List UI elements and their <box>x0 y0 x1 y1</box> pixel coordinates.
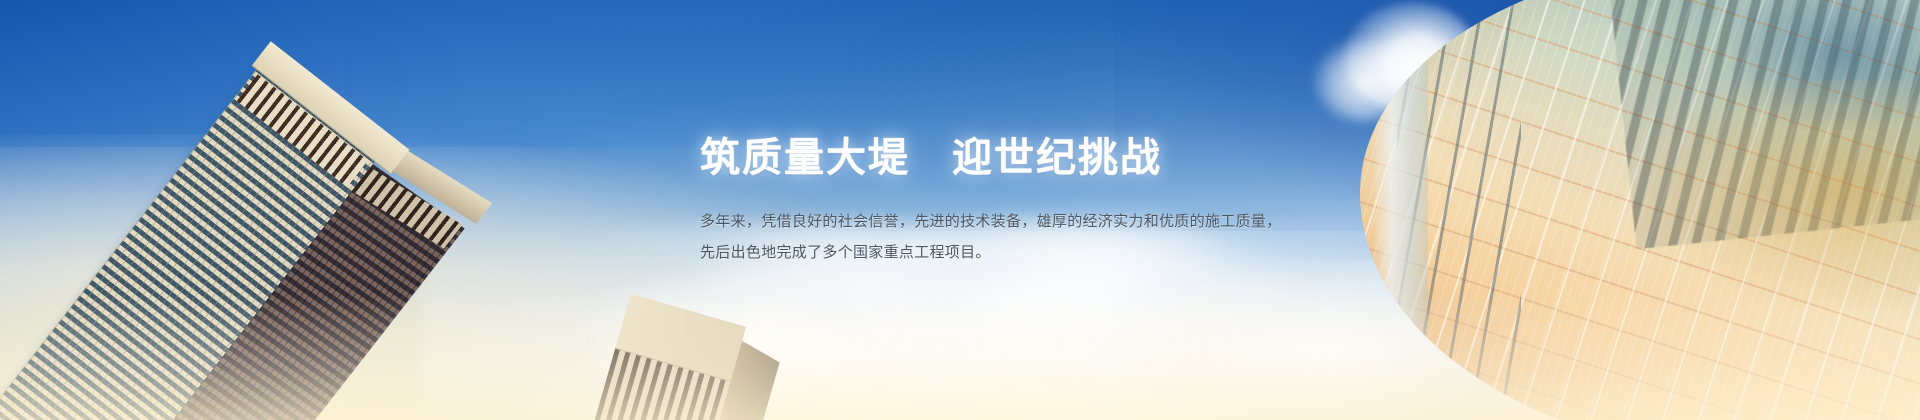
bottom-warm-haze <box>0 294 1920 420</box>
banner-subcopy: 多年来，凭借良好的社会信誉，先进的技术装备，雄厚的经济实力和优质的施工质量， 先… <box>700 206 1340 268</box>
banner-subcopy-line-1: 多年来，凭借良好的社会信誉，先进的技术装备，雄厚的经济实力和优质的施工质量， <box>700 206 1340 237</box>
banner-copy-block: 筑质量大堤 迎世纪挑战 多年来，凭借良好的社会信誉，先进的技术装备，雄厚的经济实… <box>700 136 1340 268</box>
banner-headline: 筑质量大堤 迎世纪挑战 <box>700 136 1340 180</box>
hero-banner: 筑质量大堤 迎世纪挑战 多年来，凭借良好的社会信誉，先进的技术装备，雄厚的经济实… <box>0 0 1920 420</box>
banner-subcopy-line-2: 先后出色地完成了多个国家重点工程项目。 <box>700 237 1340 268</box>
